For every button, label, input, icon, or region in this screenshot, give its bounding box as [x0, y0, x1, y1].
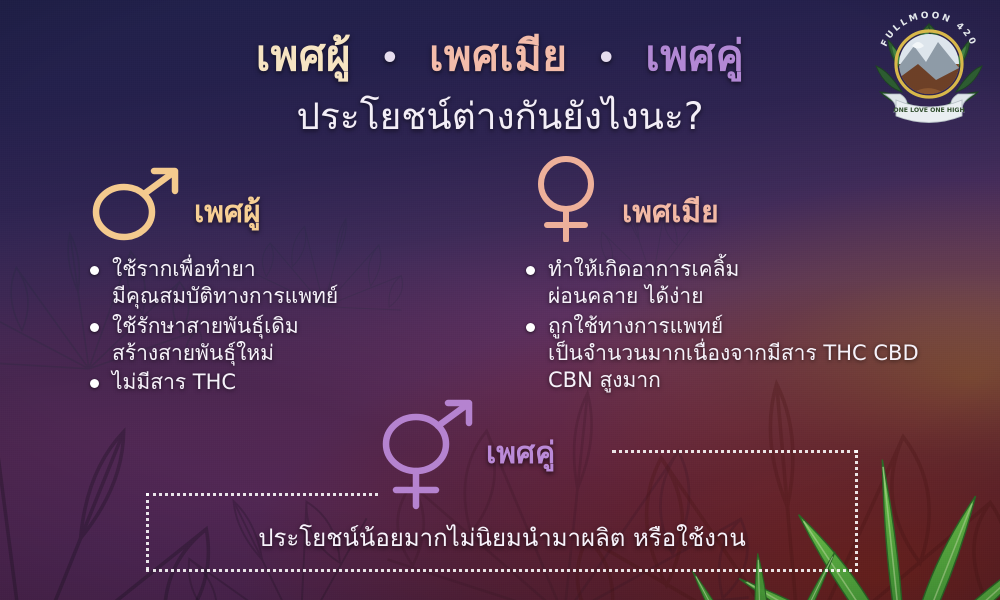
list-item: ใช้รักษาสายพันธุ์เดิม สร้างสายพันธุ์ใหม่ [86, 313, 506, 368]
list-item: ไม่มีสาร THC [86, 369, 506, 396]
list-item: ใช้รากเพื่อทำยา มีคุณสมบัติทางการแพทย์ [86, 256, 506, 311]
list-item: ทำให้เกิดอาการเคลิ้ม ผ่อนคลาย ได้ง่าย [522, 256, 952, 311]
section-male-heading: เพศผู้ [194, 189, 261, 246]
bullet-line-2: ผ่อนคลาย ได้ง่าย [548, 283, 952, 310]
mars-symbol-icon [86, 164, 186, 246]
section-both-heading: เพศคู่ [486, 430, 555, 477]
section-male: เพศผู้ ใช้รากเพื่อทำยา มีคุณสมบัติทางการ… [86, 168, 506, 398]
section-female-bullet-list: ทำให้เกิดอาการเคลิ้ม ผ่อนคลาย ได้ง่าย ถู… [522, 256, 952, 394]
list-item: ถูกใช้ทางการแพทย์ เป็นจำนวนมากเนื่องจากม… [522, 313, 952, 395]
section-female-header: เพศเมีย [522, 168, 952, 246]
mars-venus-symbol-icon [368, 396, 488, 516]
bullet-line-1: ไม่มีสาร THC [112, 369, 506, 396]
logo-banner-text: ONE LOVE ONE HIGH [893, 107, 964, 114]
bullet-line-1: ถูกใช้ทางการแพทย์ [548, 313, 952, 340]
bullet-line-2: สร้างสายพันธุ์ใหม่ [112, 340, 506, 367]
section-male-header: เพศผู้ [86, 168, 506, 246]
venus-symbol-icon [522, 156, 614, 246]
section-female: เพศเมีย ทำให้เกิดอาการเคลิ้ม ผ่อนคลาย ได… [522, 168, 952, 396]
bullet-line-2: เป็นจำนวนมากเนื่องจากมีสาร THC CBD CBN ส… [548, 340, 952, 395]
bullet-line-1: ทำให้เกิดอาการเคลิ้ม [548, 256, 952, 283]
section-both-text: ประโยชน์น้อยมากไม่นิยมนำมาผลิต หรือใช้งา… [146, 518, 858, 557]
bullet-line-1: ใช้รากเพื่อทำยา [112, 256, 506, 283]
bullet-line-1: ใช้รักษาสายพันธุ์เดิม [112, 313, 506, 340]
section-female-heading: เพศเมีย [622, 189, 719, 246]
fullmoon-420-logo[interactable]: ONE LOVE ONE HIGH FULLMOON 420 [866, 6, 992, 132]
infographic-poster: ONE LOVE ONE HIGH FULLMOON 420 เพศผู้ • … [0, 0, 1000, 600]
bullet-line-2: มีคุณสมบัติทางการแพทย์ [112, 283, 506, 310]
section-male-bullet-list: ใช้รากเพื่อทำยา มีคุณสมบัติทางการแพทย์ ใ… [86, 256, 506, 396]
